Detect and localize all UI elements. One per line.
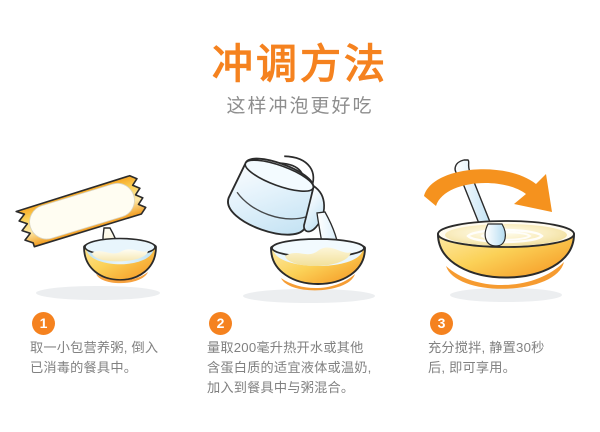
step-1-text: 取一小包营养粥, 倒入 已消毒的餐具中。 — [30, 338, 220, 378]
spoon-tip — [485, 224, 505, 246]
illustration-stirring — [410, 150, 600, 310]
step-2-text: 量取200毫升热开水或其他 含蛋白质的适宜液体或温奶, 加入到餐具中与粥混合。 — [207, 338, 397, 398]
illustration-sachet-pouring — [6, 150, 206, 310]
stir-arrow-icon — [424, 169, 552, 212]
step-1-badge: 1 — [32, 312, 55, 335]
shadow — [450, 288, 562, 302]
page-title: 冲调方法 — [0, 40, 600, 88]
illustration-band — [0, 150, 600, 310]
step-2-badge: 2 — [209, 312, 232, 335]
bowl — [84, 239, 156, 284]
step-2: 2 量取200毫升热开水或其他 含蛋白质的适宜液体或温奶, 加入到餐具中与粥混合… — [207, 312, 397, 398]
bowl — [271, 239, 365, 290]
infographic-page: 冲调方法 这样冲泡更好吃 — [0, 0, 600, 432]
illustration-pitcher-pouring — [209, 150, 409, 310]
shadow — [243, 289, 375, 303]
header: 冲调方法 这样冲泡更好吃 — [0, 40, 600, 120]
step-3-text: 充分搅拌, 静置30秒 后, 即可享用。 — [428, 338, 593, 378]
page-subtitle: 这样冲泡更好吃 — [0, 94, 600, 120]
step-3-badge: 3 — [430, 312, 453, 335]
sachet-packet — [16, 174, 147, 249]
step-3: 3 充分搅拌, 静置30秒 后, 即可享用。 — [428, 312, 593, 378]
steps-list: 1 取一小包营养粥, 倒入 已消毒的餐具中。 2 量取200毫升热开水或其他 含… — [0, 312, 600, 432]
shadow — [36, 286, 160, 300]
step-1: 1 取一小包营养粥, 倒入 已消毒的餐具中。 — [30, 312, 220, 378]
bowl — [438, 221, 574, 289]
